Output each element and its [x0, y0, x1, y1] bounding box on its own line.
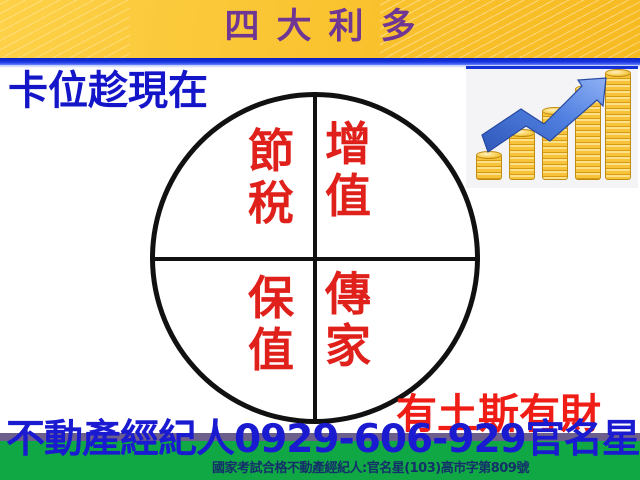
- quadrant-top-left: 節 稅: [241, 125, 301, 229]
- headline-left: 卡位趁現在: [8, 68, 208, 114]
- quadrant-bottom-right: 傳 家: [318, 268, 378, 372]
- quadrant-bottom-left-char-2: 值: [241, 324, 301, 376]
- quadrant-top-right-char-1: 增: [318, 118, 378, 170]
- quadrant-bottom-left: 保 值: [241, 272, 301, 376]
- banner-underline-rule: [0, 58, 640, 65]
- quadrant-bottom-right-char-1: 傳: [318, 268, 378, 320]
- quadrant-top-right: 增 值: [318, 118, 378, 222]
- up-trend-arrow-icon: [466, 69, 638, 188]
- slide-canvas: 四大利多 卡位趁現在 節 稅 增 值: [0, 0, 640, 480]
- growth-coins-chart-icon: [466, 66, 638, 188]
- quadrant-top-left-char-2: 稅: [241, 177, 301, 229]
- contact-line: 不動產經紀人0929-606-929官名星: [6, 418, 640, 462]
- quadrant-top-left-char-1: 節: [241, 125, 301, 177]
- page-title: 四大利多: [0, 2, 640, 52]
- quadrant-top-right-char-2: 值: [318, 170, 378, 222]
- quadrant-bottom-left-char-1: 保: [241, 272, 301, 324]
- quadrant-bottom-right-char-2: 家: [318, 320, 378, 372]
- license-fine-print: 國家考試合格不動產經紀人:官名星(103)高市字第809號: [212, 461, 529, 477]
- circle-vertical-divider: [313, 92, 317, 424]
